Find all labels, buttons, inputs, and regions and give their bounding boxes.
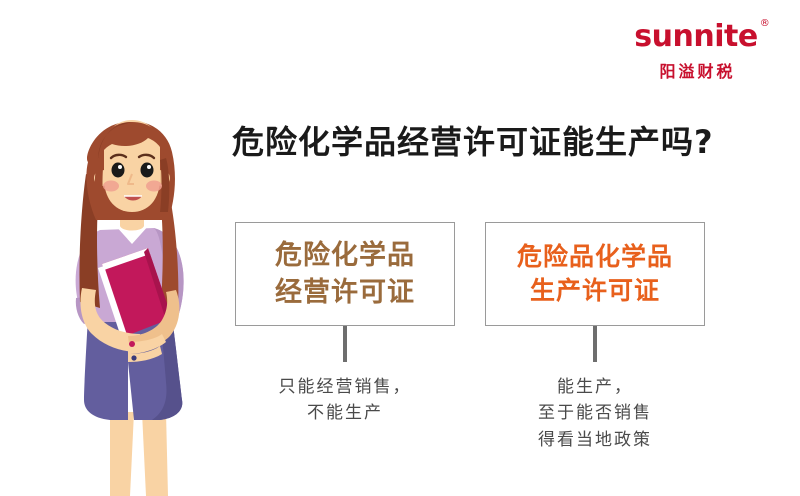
poster-canvas: sunnite ® 阳溢财税 危险化学品经营许可证能生产吗? 危险化学品 经营许… [0,0,800,496]
page-title: 危险化学品经营许可证能生产吗? [232,124,772,161]
registered-trademark-icon: ® [760,19,770,29]
caption-license-production: 能生产， 至于能否销售 得看当地政策 [485,374,705,453]
connector-line-left [343,326,347,362]
card-line-1: 危险品化学品 [517,240,673,275]
connector-line-right [593,326,597,362]
logo-subtitle: 阳溢财税 [626,58,766,82]
card-line-1: 危险化学品 [275,237,415,274]
caption-line-3: 得看当地政策 [485,427,705,453]
brand-logo: sunnite ® 阳溢财税 [626,22,766,82]
card-line-2: 生产许可证 [530,274,660,309]
card-license-operating: 危险化学品 经营许可证 [235,222,455,326]
illustration-woman-holding-book [48,112,216,496]
caption-line-1: 能生产， [485,374,705,400]
logo-mark: sunnite ® [634,22,757,52]
caption-line-2: 不能生产 [235,400,455,426]
caption-license-operating: 只能经营销售， 不能生产 [235,374,455,427]
logo-wordmark: sunnite [634,22,757,52]
card-license-production: 危险品化学品 生产许可证 [485,222,705,326]
caption-line-1: 只能经营销售， [235,374,455,400]
caption-line-2: 至于能否销售 [485,400,705,426]
card-line-2: 经营许可证 [275,274,415,311]
woman-illustration-svg [48,112,216,496]
